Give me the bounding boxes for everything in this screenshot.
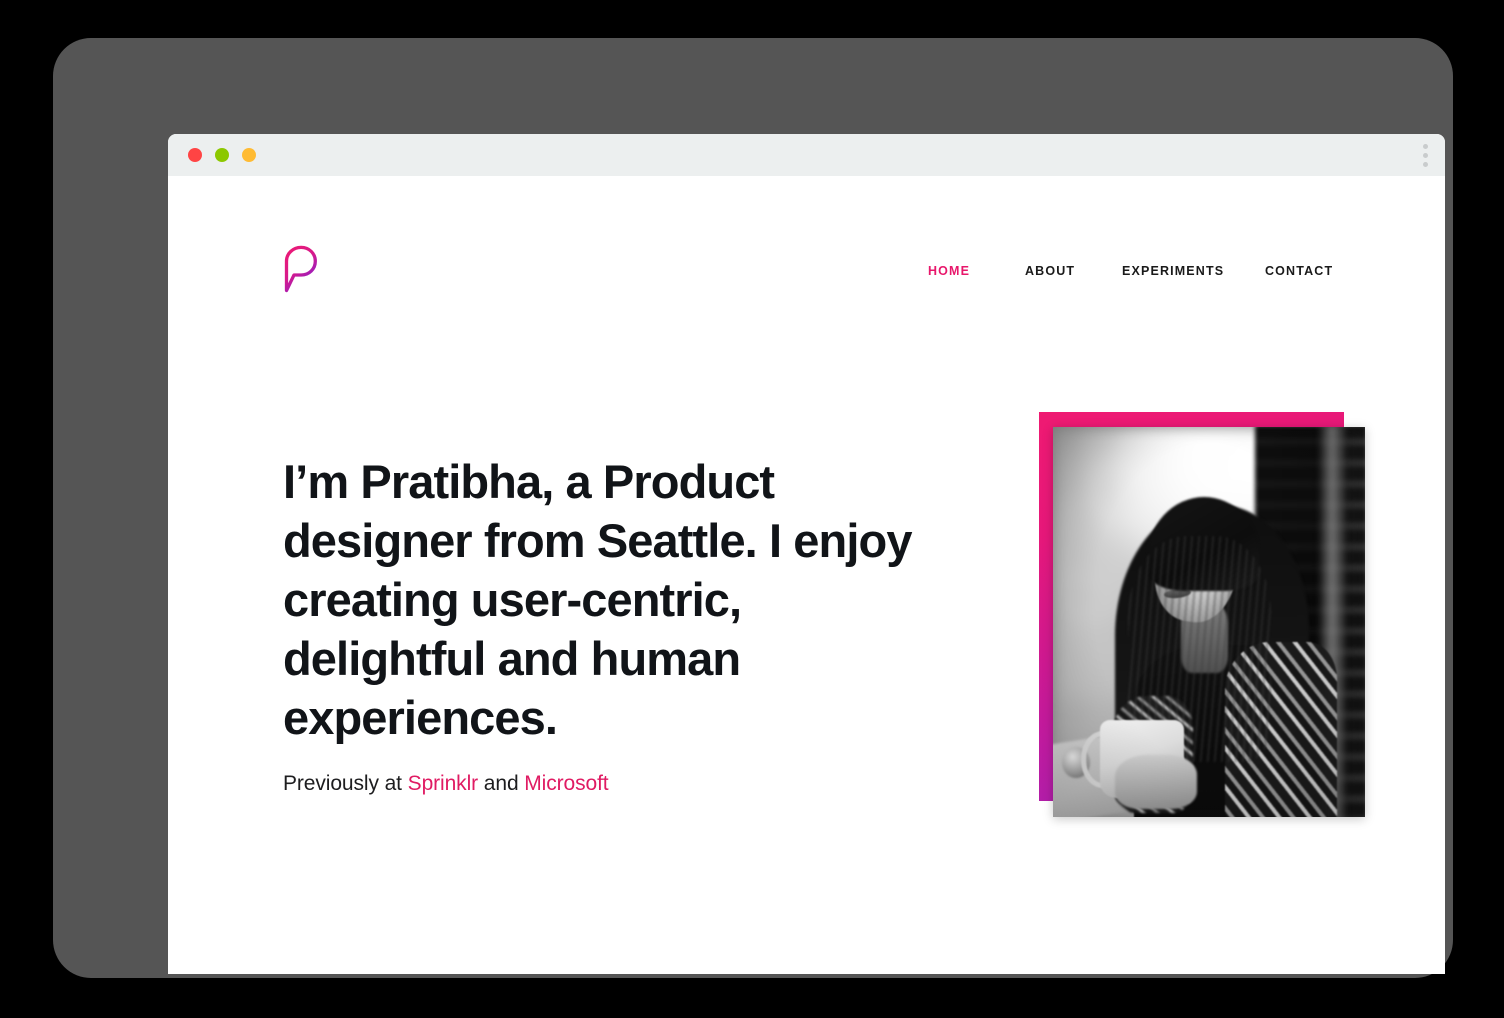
hero-subline: Previously at Sprinklr and Microsoft bbox=[283, 747, 923, 798]
browser-window: HOME ABOUT EXPERIMENTS CONTACT I’m Prati… bbox=[168, 134, 1445, 974]
hero-headline: I’m Pratibha, a Product designer from Se… bbox=[283, 452, 923, 747]
hero-figure bbox=[1039, 412, 1379, 812]
device-bezel: HOME ABOUT EXPERIMENTS CONTACT I’m Prati… bbox=[53, 38, 1453, 978]
browser-title-bar bbox=[168, 134, 1445, 176]
photo-vignette bbox=[1053, 427, 1365, 817]
close-window-icon[interactable] bbox=[188, 148, 202, 162]
link-microsoft[interactable]: Microsoft bbox=[524, 772, 608, 795]
hero-subline-middle: and bbox=[478, 772, 524, 795]
link-sprinklr[interactable]: Sprinklr bbox=[408, 772, 478, 795]
kebab-dot-1 bbox=[1423, 144, 1428, 149]
kebab-dot-2 bbox=[1423, 153, 1428, 158]
kebab-dot-3 bbox=[1423, 162, 1428, 167]
hero-subline-prefix: Previously at bbox=[283, 772, 408, 795]
hero-copy: I’m Pratibha, a Product designer from Se… bbox=[283, 452, 923, 798]
hero-portrait-photo bbox=[1053, 427, 1365, 817]
page-body: HOME ABOUT EXPERIMENTS CONTACT I’m Prati… bbox=[168, 176, 1445, 974]
minimize-window-icon[interactable] bbox=[215, 148, 229, 162]
hero-portrait-artwork bbox=[1053, 427, 1365, 817]
maximize-window-icon[interactable] bbox=[242, 148, 256, 162]
kebab-menu-icon[interactable] bbox=[1423, 134, 1428, 176]
window-controls bbox=[188, 134, 256, 176]
hero-section: I’m Pratibha, a Product designer from Se… bbox=[168, 176, 1445, 974]
